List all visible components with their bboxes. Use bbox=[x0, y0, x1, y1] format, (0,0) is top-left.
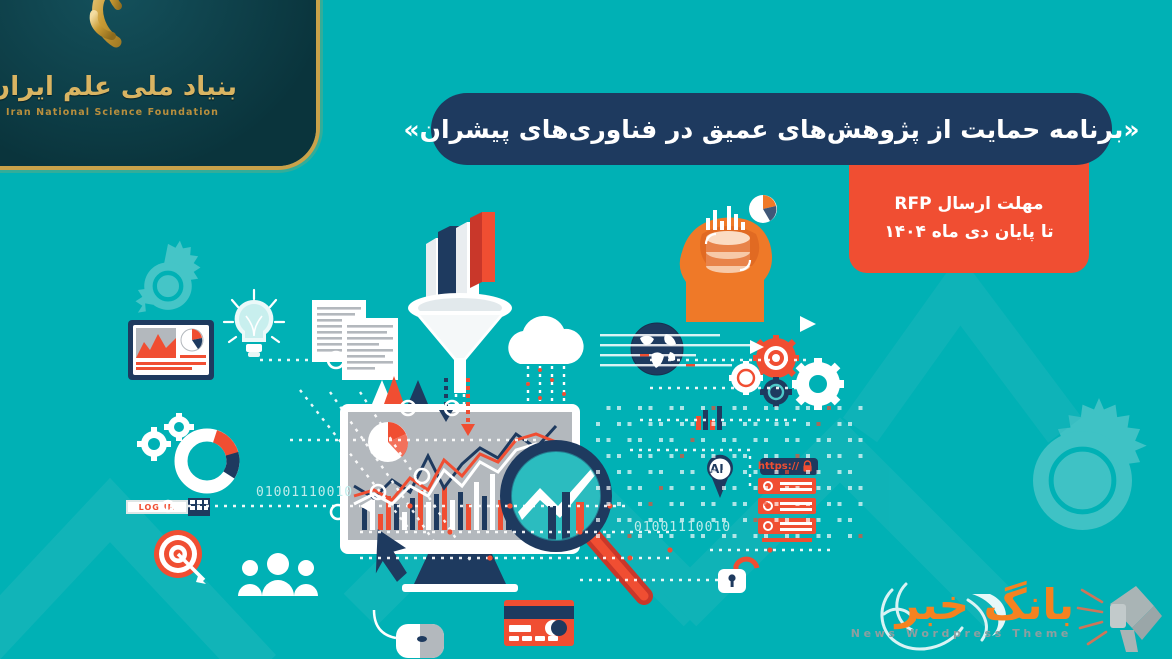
foundation-name-en: Iran National Science Foundation bbox=[6, 107, 219, 118]
megaphone-icon bbox=[1076, 582, 1168, 656]
deadline-line-1: مهلت ارسال RFP bbox=[894, 194, 1043, 214]
deadline-line-2: تا پایان دی ماه ۱۴۰۴ bbox=[884, 222, 1053, 242]
site-watermark: بانگ خبر News Wordpress Theme bbox=[872, 572, 1172, 659]
foundation-logo-panel: بنیاد ملی علم ایران Iran National Scienc… bbox=[0, 0, 320, 170]
foundation-logo-mark-icon bbox=[38, 0, 188, 58]
deadline-callout: مهلت ارسال RFP تا پایان دی ماه ۱۴۰۴ bbox=[849, 162, 1089, 273]
foundation-name-fa: بنیاد ملی علم ایران bbox=[0, 72, 237, 102]
page-title: «برنامه حمایت از پژوهش‌های عمیق در فناور… bbox=[403, 115, 1139, 144]
watermark-brand: بانگ خبر bbox=[896, 580, 1074, 629]
data-stream-dots bbox=[600, 330, 780, 390]
watermark-tagline: News Wordpress Theme bbox=[851, 627, 1072, 640]
promo-banner: LOG IN bbox=[0, 0, 1172, 659]
binary-text-right: 01001110010 bbox=[634, 520, 731, 535]
binary-text-left: 01001110010 bbox=[256, 485, 353, 500]
program-title-banner: «برنامه حمایت از پژوهش‌های عمیق در فناور… bbox=[431, 93, 1112, 165]
pie-chart-icon bbox=[748, 194, 778, 224]
